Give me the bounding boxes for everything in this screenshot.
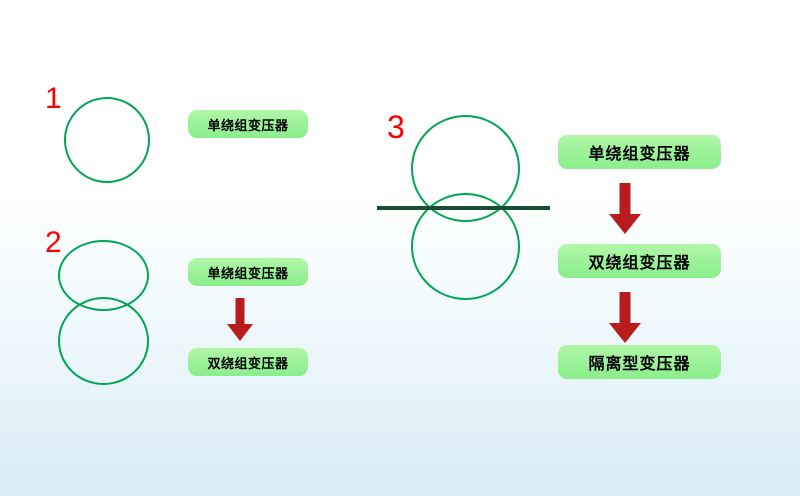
winding-circle-1a — [64, 97, 150, 183]
down-arrow-icon-3a — [608, 183, 642, 235]
step-number-1: 1 — [45, 84, 62, 114]
step-number-3: 3 — [387, 111, 405, 143]
conductor-line-3 — [377, 206, 550, 210]
slide-canvas: 1 单绕组变压器 2 单绕组变压器 双绕组变压器 3 单绕组变压器 双绕组变压器 — [0, 0, 800, 496]
label-double-winding-transformer-2: 双绕组变压器 — [188, 348, 308, 376]
label-double-winding-transformer-3: 双绕组变压器 — [558, 244, 721, 278]
label-single-winding-transformer-1: 单绕组变压器 — [188, 110, 308, 138]
label-isolation-transformer-3: 隔离型变压器 — [558, 345, 721, 379]
down-arrow-icon-2 — [226, 298, 254, 342]
label-single-winding-transformer-2: 单绕组变压器 — [188, 258, 308, 286]
label-single-winding-transformer-3: 单绕组变压器 — [558, 135, 721, 169]
step-number-2: 2 — [45, 228, 62, 258]
winding-circle-2b — [58, 297, 149, 385]
down-arrow-icon-3b — [608, 292, 642, 344]
